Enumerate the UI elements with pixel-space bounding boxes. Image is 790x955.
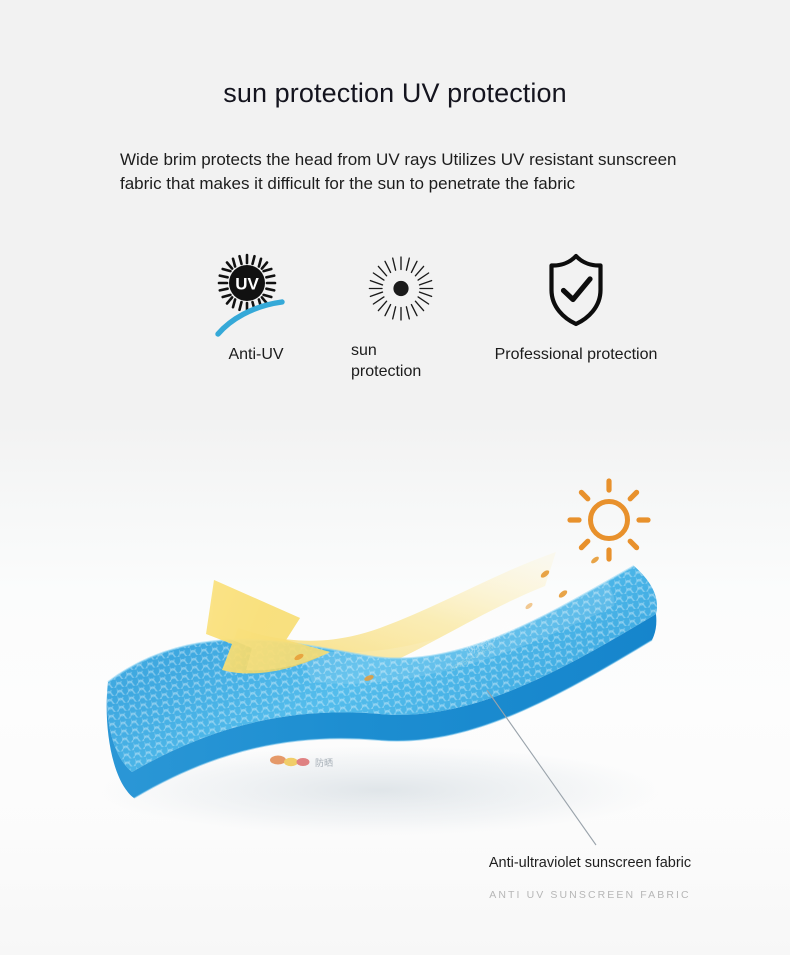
- uv-sun-icon: UV: [204, 252, 304, 338]
- feature-professional-protection[interactable]: Professional protection: [470, 252, 682, 328]
- caption-subtitle: ANTI UV SUNSCREEN FABRIC: [420, 889, 760, 901]
- fabric-illustration: 防紫外线 UPF50+ anti-uv 防晒: [0, 0, 790, 955]
- uv-rays: [524, 555, 600, 610]
- beam-arrow: [206, 580, 375, 682]
- feature-row: UV Anti-UV: [0, 252, 790, 392]
- svg-text:防晒: 防晒: [315, 757, 333, 768]
- shield-check-icon: [544, 252, 608, 330]
- feature-anti-uv[interactable]: UV Anti-UV: [196, 252, 316, 328]
- page-title: sun protection UV protection: [0, 78, 790, 109]
- caption-title: Anti-ultraviolet sunscreen fabric: [420, 855, 760, 871]
- product-feature-page: sun protection UV protection Wide brim p…: [0, 0, 790, 955]
- feature-professional-protection-icon-wrap: [470, 252, 682, 328]
- sunburst-icon: [368, 256, 434, 326]
- svg-text:防紫外线: 防紫外线: [464, 619, 517, 658]
- beam-reflected: [222, 552, 556, 685]
- feature-sun-protection[interactable]: sun protection: [349, 252, 453, 328]
- feature-professional-protection-label: Professional protection: [470, 344, 682, 365]
- fabric-shadow: [100, 744, 660, 836]
- svg-text:UV: UV: [235, 275, 259, 294]
- svg-text:UPF50+ anti-uv: UPF50+ anti-uv: [450, 643, 496, 674]
- feature-sun-protection-icon-wrap: [349, 252, 453, 328]
- fabric-sheet: 防紫外线 UPF50+ anti-uv 防晒: [107, 566, 657, 798]
- feature-sun-protection-label: sun protection: [349, 340, 455, 382]
- feature-anti-uv-icon-wrap: UV: [196, 252, 316, 328]
- caption-leader-line: [487, 690, 596, 845]
- feature-anti-uv-label: Anti-UV: [196, 344, 316, 365]
- page-description: Wide brim protects the head from UV rays…: [120, 148, 698, 195]
- fabric-logo-mark: 防晒: [270, 756, 333, 769]
- sun-outline-icon: [567, 478, 651, 562]
- fabric-watermark: 防紫外线 UPF50+ anti-uv: [450, 619, 517, 674]
